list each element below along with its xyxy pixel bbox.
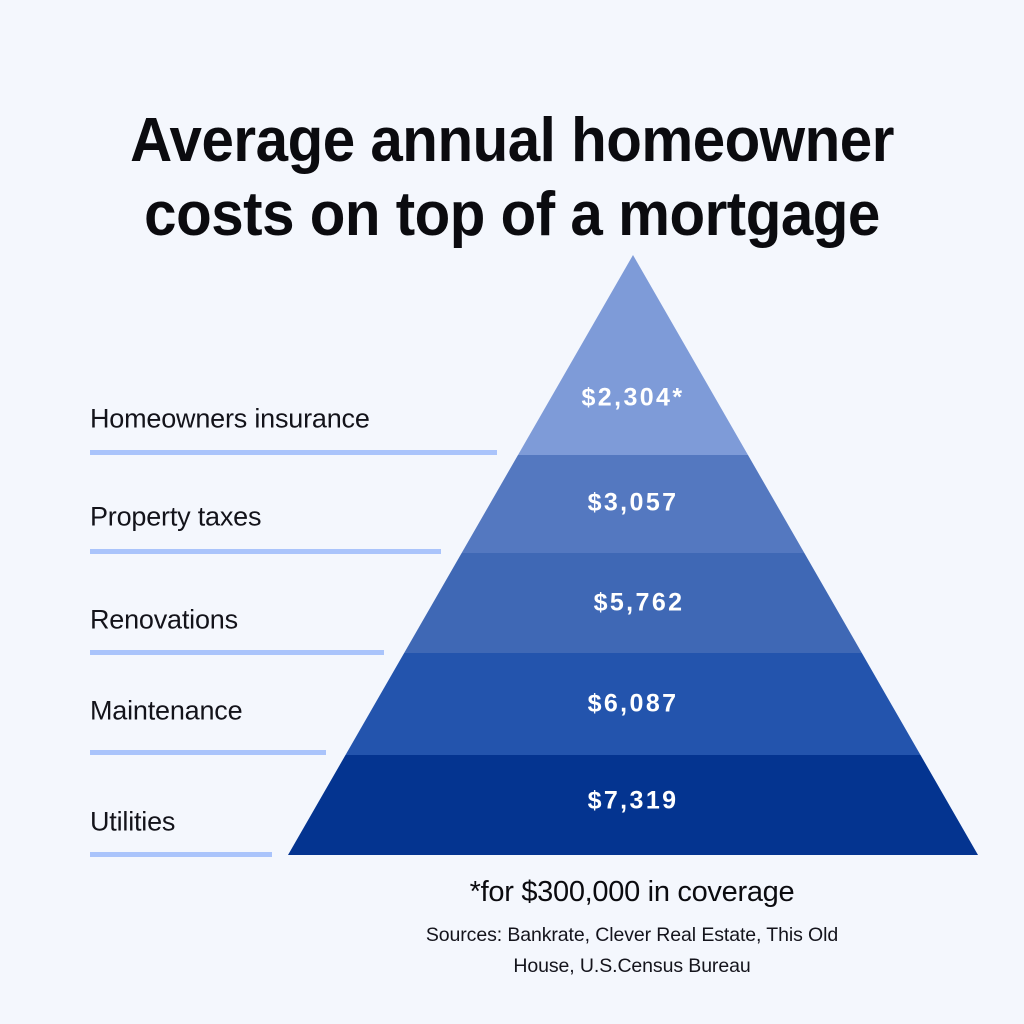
category-label-utilities: Utilities	[90, 807, 175, 838]
sources-text: Sources: Bankrate, Clever Real Estate, T…	[284, 920, 980, 982]
category-label-renovations: Renovations	[90, 605, 238, 636]
pyramid-value-renovations: $5,762	[594, 589, 685, 618]
category-divider-3	[90, 650, 384, 655]
category-divider-5	[90, 852, 272, 857]
category-divider-2	[90, 549, 441, 554]
sources-line-1: Sources: Bankrate, Clever Real Estate, T…	[284, 920, 980, 951]
pyramid-value-utilities: $7,319	[588, 787, 679, 816]
sources-line-2: House, U.S.Census Bureau	[284, 951, 980, 982]
pyramid-value-property-taxes: $3,057	[588, 489, 679, 518]
category-divider-4	[90, 750, 326, 755]
footnote-coverage: *for $300,000 in coverage	[284, 876, 980, 909]
pyramid-band-renovations	[0, 553, 1024, 653]
pyramid-value-homeowners-insurance: $2,304*	[582, 384, 685, 413]
category-label-maintenance: Maintenance	[90, 696, 242, 727]
category-label-homeowners-insurance: Homeowners insurance	[90, 404, 370, 435]
infographic-canvas: Average annual homeowner costs on top of…	[0, 0, 1024, 1024]
pyramid-value-maintenance: $6,087	[588, 690, 679, 719]
category-label-property-taxes: Property taxes	[90, 502, 261, 533]
category-divider-1	[90, 450, 497, 455]
